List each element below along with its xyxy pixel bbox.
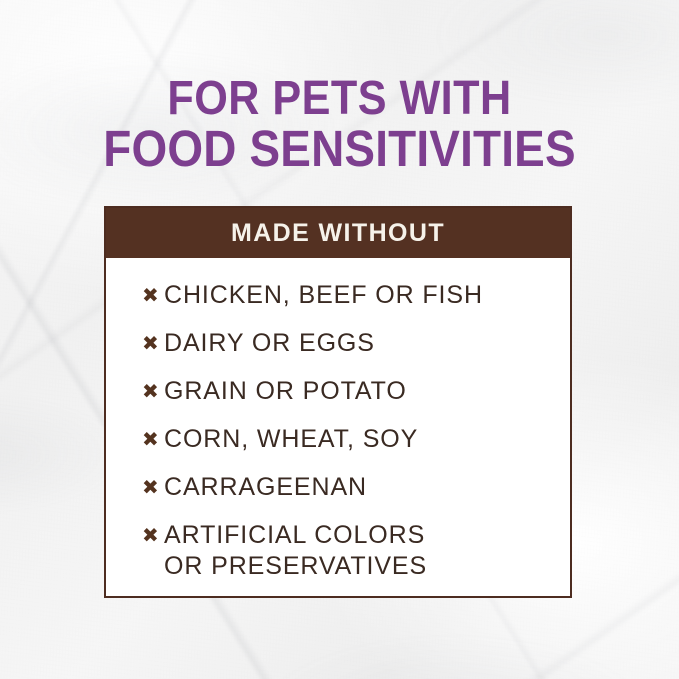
- list-item-label: ARTIFICIAL COLORS OR PRESERVATIVES: [164, 520, 427, 582]
- card-header-title: MADE WITHOUT: [231, 219, 445, 248]
- cross-icon: ✖: [142, 280, 164, 311]
- cross-icon: ✖: [142, 328, 164, 359]
- list-item-label: CARRAGEENAN: [164, 472, 367, 503]
- excluded-ingredients-list: ✖ CHICKEN, BEEF OR FISH ✖ DAIRY OR EGGS …: [142, 280, 570, 582]
- card-header-bar: MADE WITHOUT: [106, 208, 570, 258]
- page-title-line-2: FOOD SENSITIVITIES: [34, 124, 645, 174]
- page-title-line-1: FOR PETS WITH: [34, 74, 645, 124]
- page-title: FOR PETS WITH FOOD SENSITIVITIES: [34, 74, 645, 174]
- made-without-card: MADE WITHOUT ✖ CHICKEN, BEEF OR FISH ✖ D…: [104, 206, 572, 598]
- list-item: ✖ ARTIFICIAL COLORS OR PRESERVATIVES: [142, 520, 570, 582]
- poster-canvas: FOR PETS WITH FOOD SENSITIVITIES MADE WI…: [0, 0, 679, 679]
- card-body: ✖ CHICKEN, BEEF OR FISH ✖ DAIRY OR EGGS …: [106, 258, 570, 596]
- list-item-label: DAIRY OR EGGS: [164, 328, 375, 359]
- list-item: ✖ CORN, WHEAT, SOY: [142, 424, 570, 455]
- list-item: ✖ CARRAGEENAN: [142, 472, 570, 503]
- list-item: ✖ GRAIN OR POTATO: [142, 376, 570, 407]
- list-item-label: GRAIN OR POTATO: [164, 376, 407, 407]
- cross-icon: ✖: [142, 424, 164, 455]
- cross-icon: ✖: [142, 520, 164, 551]
- list-item: ✖ CHICKEN, BEEF OR FISH: [142, 280, 570, 311]
- list-item-label: CHICKEN, BEEF OR FISH: [164, 280, 483, 311]
- cross-icon: ✖: [142, 472, 164, 503]
- list-item-label: CORN, WHEAT, SOY: [164, 424, 418, 455]
- cross-icon: ✖: [142, 376, 164, 407]
- list-item: ✖ DAIRY OR EGGS: [142, 328, 570, 359]
